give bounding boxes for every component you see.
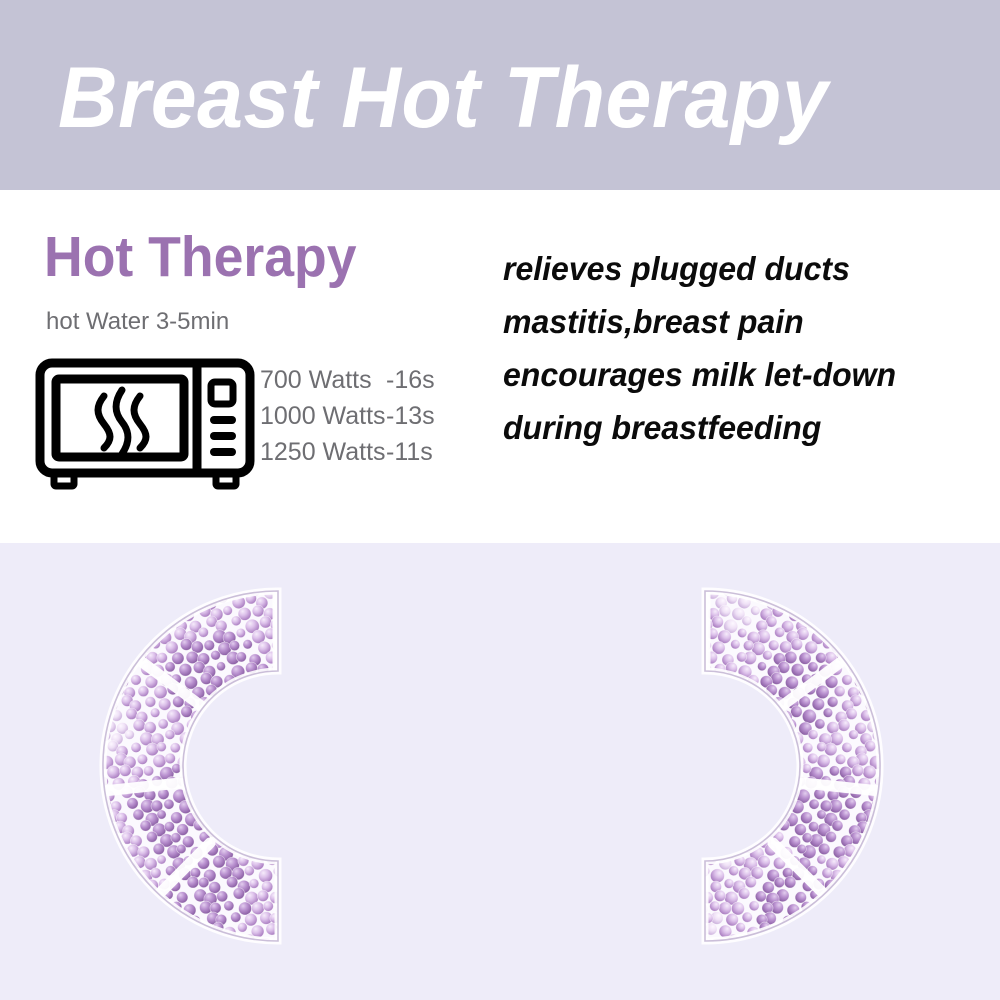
gel-pads-stage [0,543,1000,1000]
info-section: Hot Therapy hot Water 3-5min [0,190,1000,543]
gel-bead-breast-pad-left [68,561,488,961]
product-image-section [0,543,1000,1000]
page-title: Breast Hot Therapy [58,50,922,146]
benefits-list: relieves plugged ducts mastitis,breast p… [503,242,995,454]
steam-waves-icon [98,390,146,454]
wattage-time: -11s [386,434,433,470]
wattage-power: 1250 Watts [260,434,386,470]
product-marketing-image: Breast Hot Therapy Hot Therapy hot Water… [0,0,1000,1000]
wattage-time: -16s [386,362,435,398]
hot-therapy-column: Hot Therapy hot Water 3-5min [0,190,500,543]
benefit-line: encourages milk let-down [503,348,980,401]
section-heading: Hot Therapy [44,226,357,288]
benefit-line: relieves plugged ducts [503,242,980,295]
wattage-power: 700 Watts [260,362,386,398]
hot-water-instruction: hot Water 3-5min [46,307,229,337]
wattage-time: -13s [386,398,435,434]
wattage-list: 700 Watts -16s 1000 Watts -13s 1250 Watt… [260,362,490,470]
wattage-row: 1000 Watts -13s [260,398,490,434]
wattage-row: 1250 Watts -11s [260,434,490,470]
benefit-line: during breastfeeding [503,401,980,454]
wattage-row: 700 Watts -16s [260,362,490,398]
gel-bead-breast-pad-right [495,561,915,961]
microwave-icon [34,358,256,493]
benefit-line: mastitis,breast pain [503,295,980,348]
wattage-power: 1000 Watts [260,398,386,434]
header-band: Breast Hot Therapy [0,0,1000,190]
